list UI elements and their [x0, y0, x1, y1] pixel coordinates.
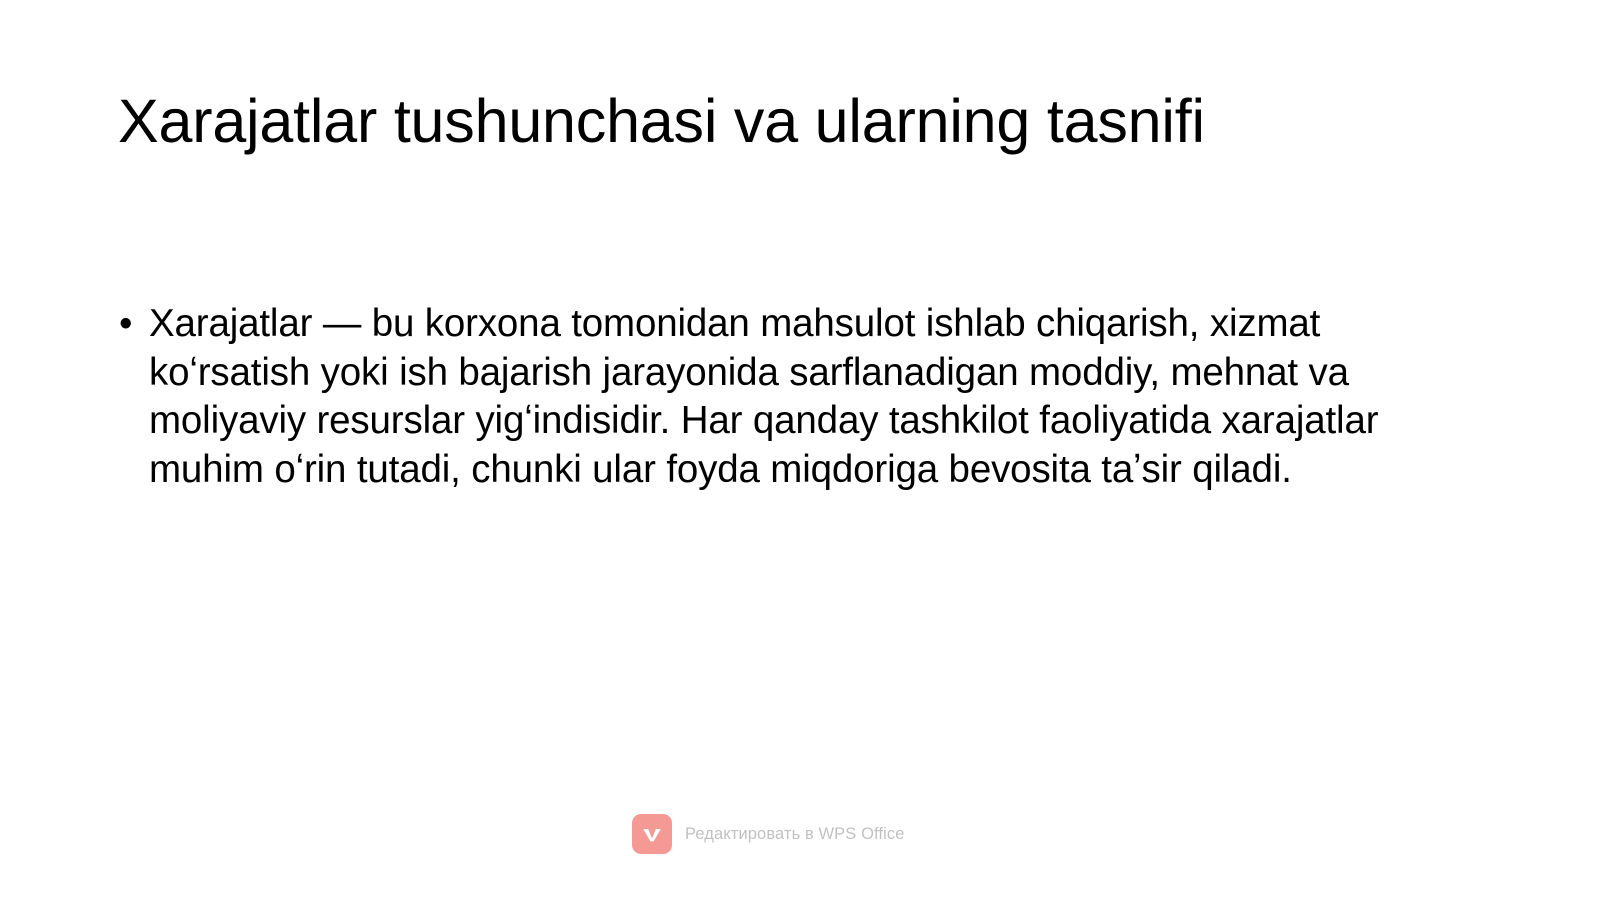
slide-canvas: Xarajatlar tushunchasi va ularning tasni… [0, 0, 1600, 900]
wps-office-watermark[interactable]: Редактировать в WPS Office [632, 814, 904, 854]
list-item-text: Xarajatlar — bu korxona tomonidan mahsul… [149, 300, 1448, 494]
wps-office-watermark-label: Редактировать в WPS Office [685, 824, 904, 844]
wps-office-logo-icon [632, 814, 672, 854]
bullet-marker-icon: • [119, 300, 132, 349]
page-title: Xarajatlar tushunchasi va ularning tasni… [118, 86, 1498, 158]
list-item: • Xarajatlar — bu korxona tomonidan mahs… [118, 300, 1448, 494]
slide-body: • Xarajatlar — bu korxona tomonidan mahs… [118, 300, 1448, 494]
